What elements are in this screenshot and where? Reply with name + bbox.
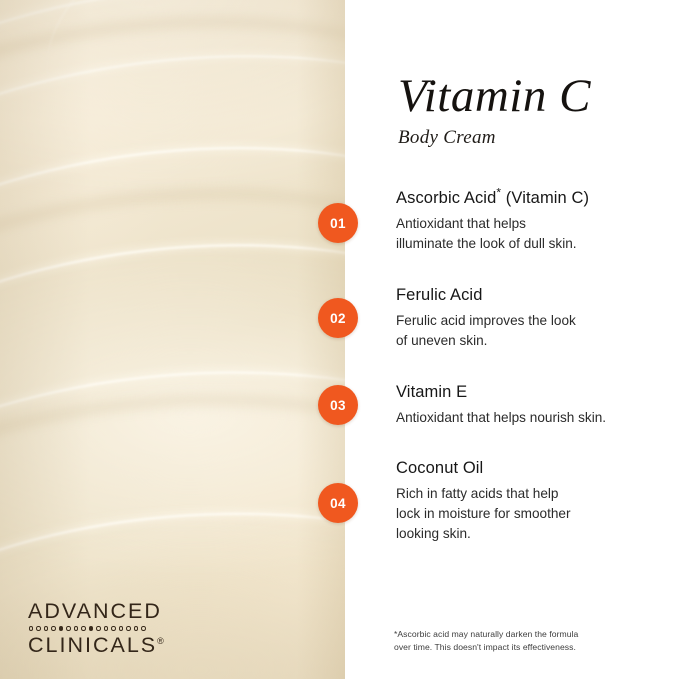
- logo-dot-filled: [89, 626, 93, 630]
- ingredient-item-01: Ascorbic Acid* (Vitamin C) Antioxidant t…: [396, 189, 668, 254]
- badge-number: 02: [330, 311, 346, 326]
- ingredient-name-suffix: (Vitamin C): [501, 189, 589, 207]
- logo-dot: [36, 626, 40, 630]
- ingredient-name: Ascorbic Acid: [396, 189, 496, 207]
- logo-dot: [111, 626, 115, 630]
- cream-vignette: [0, 0, 345, 679]
- brand-name-line-2: CLINICALS: [28, 633, 157, 657]
- logo-dot: [134, 626, 138, 630]
- ingredient-badge-01: 01: [318, 203, 358, 243]
- ingredient-name: Vitamin E: [396, 383, 467, 401]
- ingredient-description: Rich in fatty acids that help lock in mo…: [396, 484, 668, 544]
- ingredient-title: Ascorbic Acid* (Vitamin C): [396, 189, 668, 209]
- logo-dot: [141, 626, 145, 630]
- ingredient-badge-04: 04: [318, 483, 358, 523]
- logo-dot: [74, 626, 78, 630]
- ingredient-title: Coconut Oil: [396, 459, 668, 479]
- ingredient-title: Vitamin E: [396, 383, 668, 403]
- logo-dot: [66, 626, 70, 630]
- logo-dot: [29, 626, 33, 630]
- product-title: Vitamin C: [398, 72, 668, 121]
- cream-texture-photo: [0, 0, 345, 679]
- logo-dot: [51, 626, 55, 630]
- ingredient-description: Antioxidant that helps nourish skin.: [396, 408, 668, 428]
- ingredient-name: Ferulic Acid: [396, 286, 482, 304]
- ingredient-item-03: Vitamin E Antioxidant that helps nourish…: [396, 383, 668, 428]
- logo-dot: [44, 626, 48, 630]
- disclaimer-text: *Ascorbic acid may naturally darken the …: [394, 628, 634, 655]
- logo-dot: [81, 626, 85, 630]
- ingredient-name: Coconut Oil: [396, 459, 483, 477]
- brand-logo: ADVANCED CLINICALS®: [28, 601, 188, 657]
- registered-trademark-icon: ®: [157, 635, 164, 645]
- ingredient-description: Antioxidant that helps illuminate the lo…: [396, 214, 668, 254]
- brand-name-line-2-wrapper: CLINICALS®: [28, 635, 164, 657]
- badge-number: 04: [330, 496, 346, 511]
- badge-number: 01: [330, 216, 346, 231]
- ingredient-badge-02: 02: [318, 298, 358, 338]
- badge-number: 03: [330, 398, 346, 413]
- ingredient-description: Ferulic acid improves the look of uneven…: [396, 311, 668, 351]
- logo-dot: [104, 626, 108, 630]
- ingredient-title: Ferulic Acid: [396, 286, 668, 306]
- product-subtitle: Body Cream: [398, 127, 668, 149]
- title-block: Vitamin C Body Cream: [398, 72, 668, 149]
- logo-dot-row: [29, 626, 188, 632]
- ingredient-item-04: Coconut Oil Rich in fatty acids that hel…: [396, 459, 668, 544]
- product-infographic: Vitamin C Body Cream 01 Ascorbic Acid* (…: [0, 0, 679, 679]
- logo-dot-filled: [59, 626, 63, 630]
- ingredient-badge-03: 03: [318, 385, 358, 425]
- logo-dot: [119, 626, 123, 630]
- logo-dot: [96, 626, 100, 630]
- brand-name-line-1: ADVANCED: [28, 601, 188, 623]
- logo-dot: [126, 626, 130, 630]
- ingredient-item-02: Ferulic Acid Ferulic acid improves the l…: [396, 286, 668, 351]
